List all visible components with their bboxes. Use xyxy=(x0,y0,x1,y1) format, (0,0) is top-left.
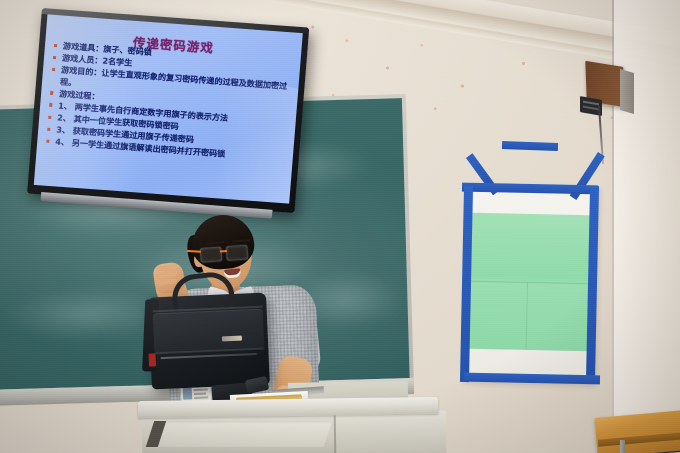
speaker-side-panel xyxy=(620,69,634,114)
badge-text-line xyxy=(194,392,206,394)
podium xyxy=(138,399,438,453)
podium-recess xyxy=(156,421,332,447)
badge-text-line xyxy=(194,388,208,390)
slide-body: 游戏道具：旗子、密码锁 游戏人员：2名学生 游戏目的：让学生直观形象的复习密码传… xyxy=(46,40,295,166)
chalk-smudge xyxy=(5,285,166,343)
badge-photo xyxy=(183,387,193,399)
tv-screen[interactable]: 传递密码游戏 游戏道具：旗子、密码锁 游戏人员：2名学生 游戏目的：让学生直观形… xyxy=(34,14,303,203)
wall-mounted-tv[interactable]: 传递密码游戏 游戏道具：旗子、密码锁 游戏人员：2名学生 游戏目的：让学生直观形… xyxy=(27,8,309,213)
bag-zipper xyxy=(161,353,257,359)
finger xyxy=(157,278,177,286)
poster-green-area xyxy=(465,213,596,352)
blue-tape-apex xyxy=(502,141,558,151)
desk-leg xyxy=(620,440,625,453)
laptop-bag xyxy=(148,292,270,389)
classroom-photo: 传递密码游戏 游戏道具：旗子、密码锁 游戏人员：2名学生 游戏目的：让学生直观形… xyxy=(0,0,680,453)
podium-right-section xyxy=(336,410,447,453)
glasses-lens-left xyxy=(199,245,224,264)
wall-poster xyxy=(452,140,620,392)
wall-speaker xyxy=(580,62,636,124)
bag-red-tab xyxy=(148,353,156,366)
bag-front-flap xyxy=(153,309,265,354)
glasses-lens-right xyxy=(224,243,249,262)
wooden-desk xyxy=(594,410,680,453)
bag-logo xyxy=(222,336,242,342)
blue-tape-bottom xyxy=(464,373,600,385)
eyeglasses-icon xyxy=(199,243,256,263)
